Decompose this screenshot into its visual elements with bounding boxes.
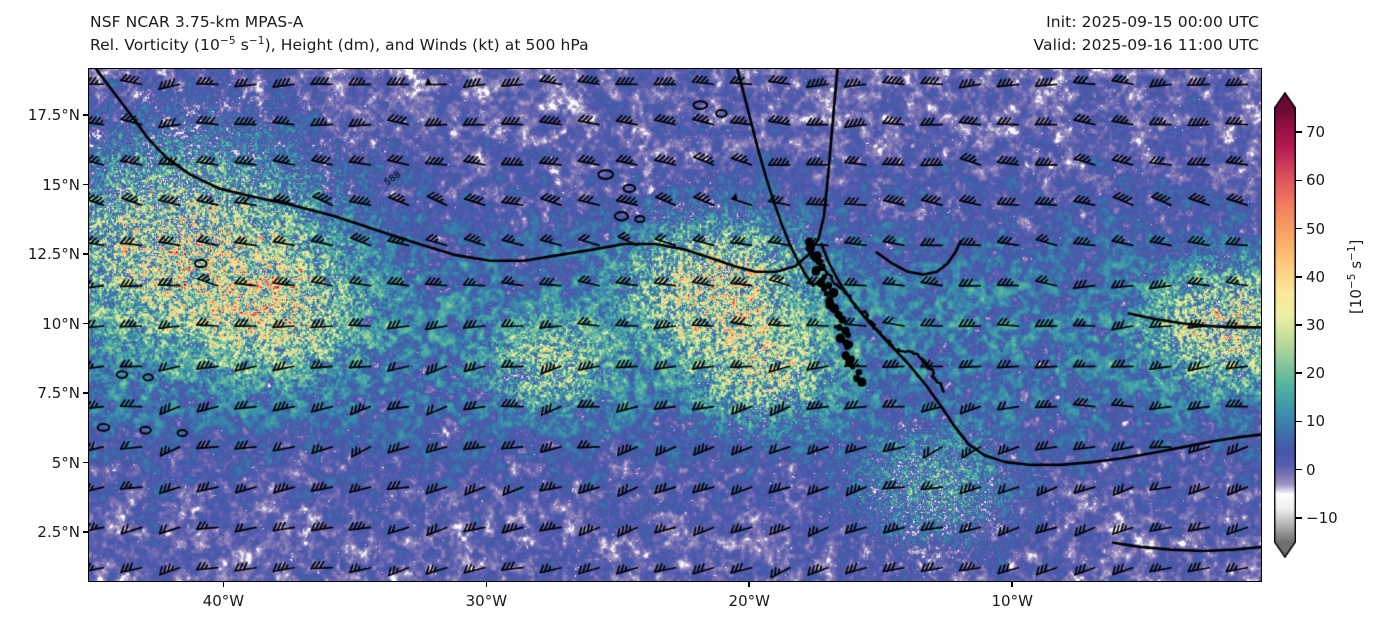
- y-tick-mark: [83, 114, 88, 116]
- field-exponent-1: −5: [220, 35, 236, 47]
- colorbar-tick-mark: [1296, 131, 1302, 133]
- colorbar-tick-mark: [1296, 180, 1302, 182]
- y-tick-mark: [83, 531, 88, 533]
- field-mid: s: [236, 36, 249, 54]
- cb-label-suffix: ]: [1347, 240, 1365, 246]
- model-name: NSF NCAR 3.75-km MPAS-A: [90, 13, 303, 31]
- x-tick-mark: [748, 582, 750, 587]
- x-tick-label-1: 30°W: [466, 592, 507, 610]
- x-tick-label-2: 20°W: [729, 592, 770, 610]
- y-tick-label-5: 5°N: [52, 454, 80, 472]
- map-plot-area: [88, 68, 1262, 582]
- colorbar-tick-label-3: 40: [1306, 268, 1325, 286]
- field-exponent-2: −1: [249, 35, 265, 47]
- title-line-model: NSF NCAR 3.75-km MPAS-A: [90, 13, 303, 31]
- colorbar-tick-label-4: 30: [1306, 316, 1325, 334]
- cb-label-mid: s: [1347, 261, 1365, 274]
- x-tick-label-3: 10°W: [991, 592, 1032, 610]
- y-tick-label-1: 15°N: [42, 176, 80, 194]
- field-suffix: ), Height (dm), and Winds (kt) at 500 hP…: [265, 36, 589, 54]
- colorbar-tick-mark: [1296, 517, 1302, 519]
- colorbar: [1274, 92, 1296, 558]
- colorbar-tick-mark: [1296, 276, 1302, 278]
- y-tick-label-0: 17.5°N: [28, 106, 80, 124]
- colorbar-tick-mark: [1296, 228, 1302, 230]
- colorbar-tick-mark: [1296, 372, 1302, 374]
- x-tick-mark: [486, 582, 488, 587]
- init-timestamp: Init: 2025-09-15 00:00 UTC: [1046, 13, 1259, 31]
- x-tick-label-0: 40°W: [203, 592, 244, 610]
- y-tick-label-6: 2.5°N: [37, 523, 80, 541]
- colorbar-gradient: [1274, 92, 1296, 558]
- colorbar-tick-label-6: 10: [1306, 412, 1325, 430]
- colorbar-tick-mark: [1296, 421, 1302, 423]
- y-tick-label-4: 7.5°N: [37, 384, 80, 402]
- colorbar-tick-label-0: 70: [1306, 123, 1325, 141]
- y-tick-mark: [83, 184, 88, 186]
- colorbar-tick-mark: [1296, 469, 1302, 471]
- y-tick-label-2: 12.5°N: [28, 245, 80, 263]
- contours-and-wind-barbs: [89, 69, 1262, 582]
- y-tick-mark: [83, 462, 88, 464]
- y-tick-mark: [83, 392, 88, 394]
- x-tick-mark: [223, 582, 225, 587]
- cb-label-exp2: −1: [1346, 245, 1358, 260]
- colorbar-tick-label-1: 60: [1306, 171, 1325, 189]
- field-prefix: Rel. Vorticity (10: [90, 36, 220, 54]
- title-line-field: Rel. Vorticity (10−5 s−1), Height (dm), …: [90, 36, 589, 54]
- x-tick-mark: [1011, 582, 1013, 587]
- colorbar-tick-label-5: 20: [1306, 364, 1325, 382]
- colorbar-tick-label-2: 50: [1306, 220, 1325, 238]
- valid-timestamp: Valid: 2025-09-16 11:00 UTC: [1033, 36, 1259, 54]
- y-tick-label-3: 10°N: [42, 315, 80, 333]
- cb-label-prefix: [10: [1347, 289, 1365, 314]
- cb-label-exp1: −5: [1346, 274, 1358, 289]
- colorbar-tick-label-7: 0: [1306, 461, 1316, 479]
- y-tick-mark: [83, 253, 88, 255]
- colorbar-axis-label: [10−5 s−1]: [1347, 240, 1365, 314]
- colorbar-tick-mark: [1296, 324, 1302, 326]
- y-tick-mark: [83, 323, 88, 325]
- colorbar-tick-label-8: −10: [1306, 509, 1338, 527]
